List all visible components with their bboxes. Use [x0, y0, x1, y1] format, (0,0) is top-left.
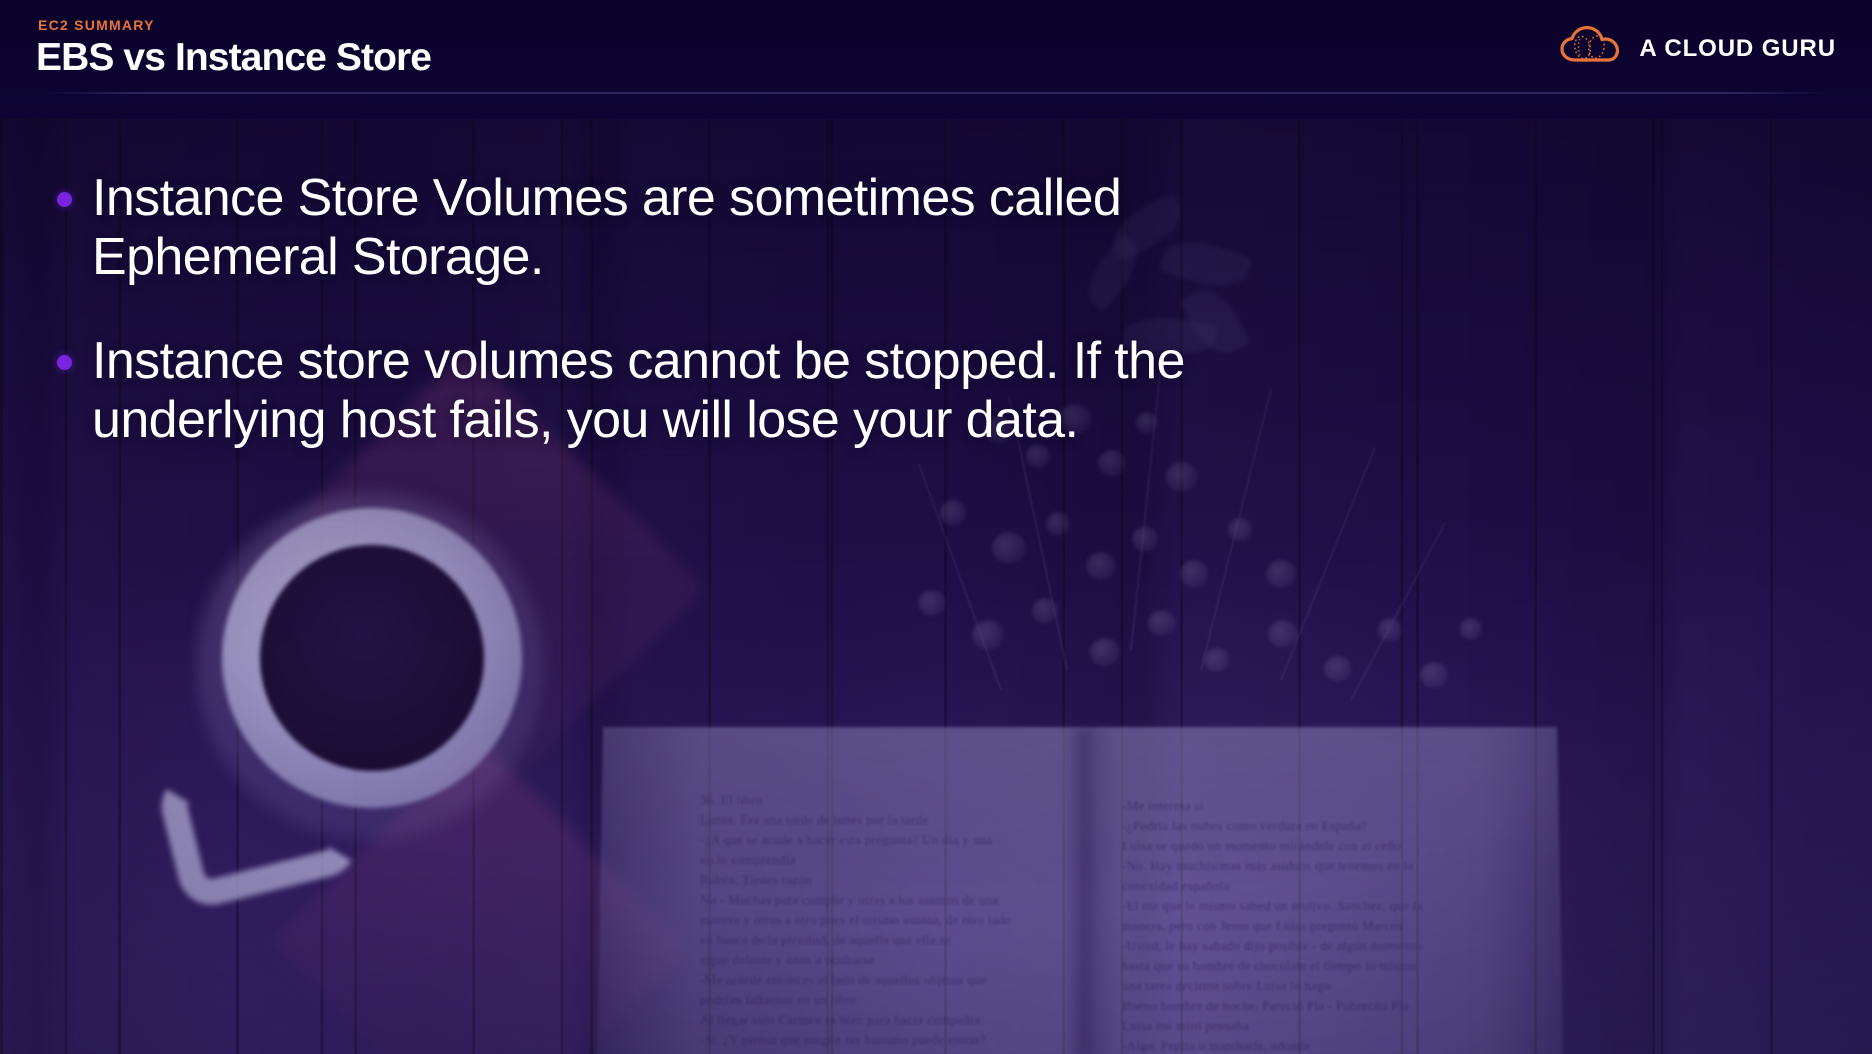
- bullet-dot-icon: [57, 192, 72, 207]
- page-title: EBS vs Instance Store: [36, 36, 431, 80]
- brand-logo: A CLOUD GURU: [1559, 26, 1836, 71]
- book-page-text-right: -Me interesa si -¿Podría las nubes como …: [1122, 796, 1423, 1054]
- coffee-liquid: [260, 545, 484, 771]
- header-divider: [38, 92, 1834, 94]
- slide: 36. El libro Lunes. Era una tarde de lun…: [0, 0, 1872, 1054]
- list-item: Instance store volumes cannot be stopped…: [0, 332, 1572, 451]
- book-page-text-left: 36. El libro Lunes. Era una tarde de lun…: [700, 790, 1011, 1054]
- slide-header: EC2 SUMMARY EBS vs Instance Store A CLOU…: [0, 0, 1872, 119]
- eyebrow-label: EC2 SUMMARY: [38, 17, 155, 33]
- bullet-text: Instance Store Volumes are sometimes cal…: [92, 169, 1222, 288]
- list-item: Instance Store Volumes are sometimes cal…: [0, 169, 1572, 288]
- brand-name: A CLOUD GURU: [1639, 35, 1836, 63]
- book-spine: [1070, 730, 1096, 1054]
- bullet-dot-icon: [57, 355, 72, 370]
- slide-body: Instance Store Volumes are sometimes cal…: [0, 119, 1872, 494]
- cloud-icon: [1559, 26, 1621, 71]
- bullet-text: Instance store volumes cannot be stopped…: [92, 332, 1222, 451]
- bullet-list: Instance Store Volumes are sometimes cal…: [0, 169, 1872, 450]
